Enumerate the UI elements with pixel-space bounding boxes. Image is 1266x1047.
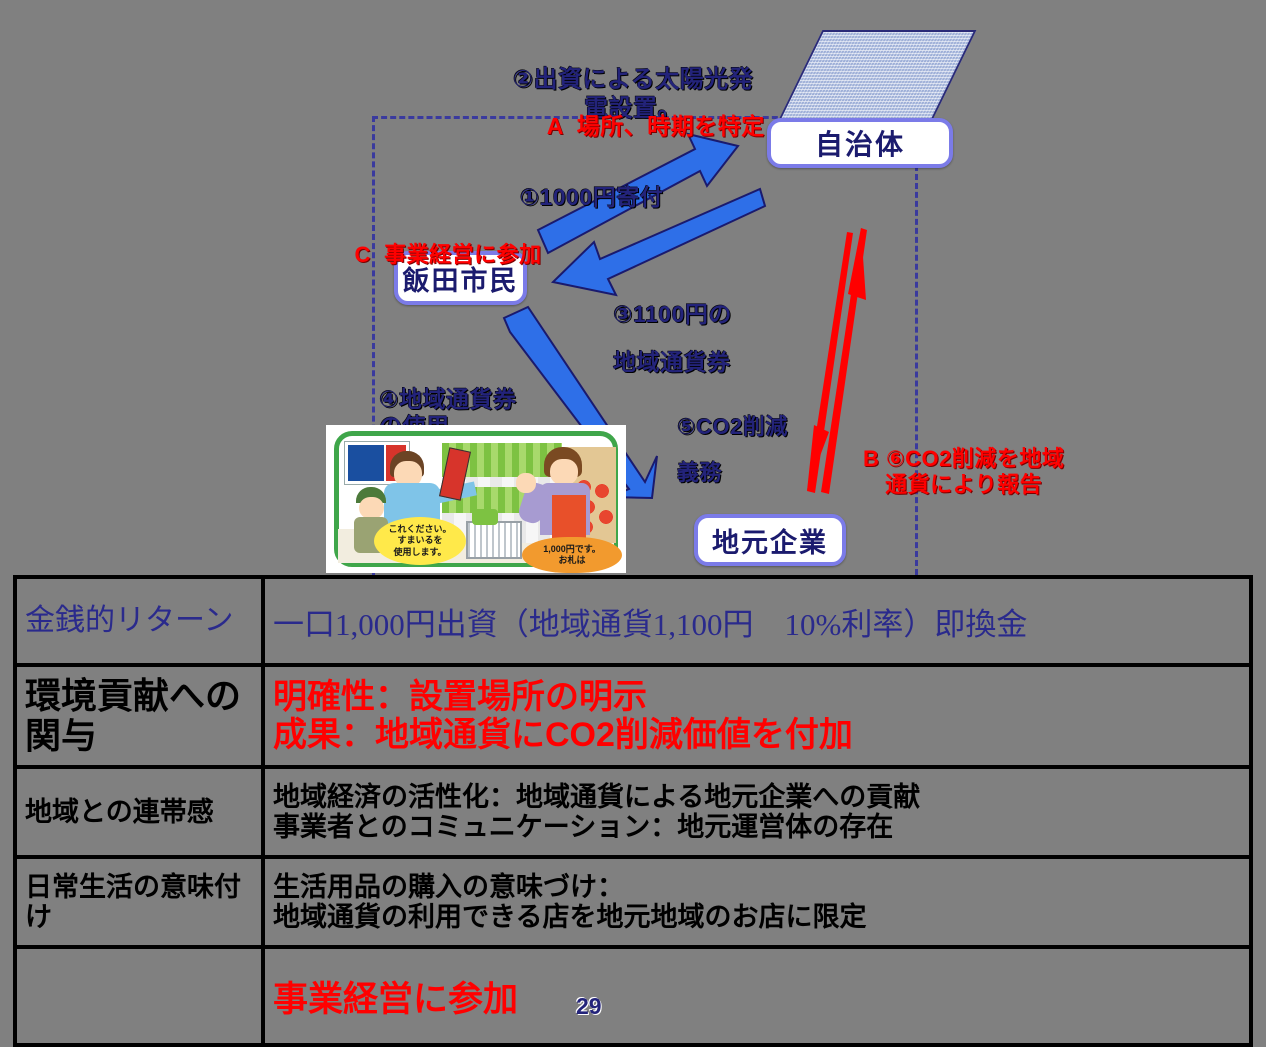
illustration-clerk-hand <box>516 473 536 493</box>
row1-value-line1: 一口1,000円出資（地域通貨1,100円 10%利率）即換金 <box>273 599 1241 644</box>
attributes-table: 金銭的リターン 一口1,000円出資（地域通貨1,100円 10%利率）即換金 … <box>13 575 1253 1047</box>
table-cell-value: 事業経営に参加29 <box>263 947 1251 1045</box>
row2-value-line2: 成果：地域通貨にCO2削減価値を付加 <box>273 716 1241 754</box>
label-step5: ⑤CO2削減 義務 <box>677 392 788 484</box>
table-cell-key <box>15 947 263 1045</box>
row1-key: 金銭的リターン <box>25 605 253 637</box>
label-point-c: C 事業経営に参加 <box>328 215 542 295</box>
slide-canvas: 自治体 飯田市民 地元企業 ②出資による太陽光発 電設置。 A 場所、時期を特定… <box>0 0 1266 1042</box>
row4-key: 日常生活の意味付け <box>25 872 253 933</box>
label-point-b: B ⑥CO2削減を地域 通貨により報告 <box>863 420 1064 498</box>
row3-value-line1: 地域経済の活性化：地域通貨による地元企業への貢献 <box>273 782 1241 813</box>
table-row: 地域との連帯感 地域経済の活性化：地域通貨による地元企業への貢献 事業者とのコミ… <box>15 767 1251 857</box>
table-row: 環境貢献への関与 明確性：設置場所の明示 成果：地域通貨にCO2削減価値を付加 <box>15 665 1251 767</box>
table-cell-value: 明確性：設置場所の明示 成果：地域通貨にCO2削減価値を付加 <box>263 665 1251 767</box>
table-row: 日常生活の意味付け 生活用品の購入の意味づけ： 地域通貨の利用できる店を地元地域… <box>15 857 1251 947</box>
illustration-price-text: 1,000円です。 お札は <box>543 544 601 567</box>
table-cell-value: 一口1,000円出資（地域通貨1,100円 10%利率）即換金 <box>263 577 1251 665</box>
illustration-clerk-apron <box>552 495 586 539</box>
illustration-speech-text: これください。 すまいるを 使用します。 <box>388 524 451 558</box>
illustration-clerk-face <box>550 459 578 485</box>
row5-value-line1: 事業経営に参加 <box>273 980 518 1019</box>
table-cell-key: 金銭的リターン <box>15 577 263 665</box>
illustration-boy-face <box>359 497 384 519</box>
shopping-illustration: これください。 すまいるを 使用します。 1,000円です。 お札は <box>326 425 626 573</box>
page-number: 29 <box>576 993 602 1019</box>
table-row: 金銭的リターン 一口1,000円出資（地域通貨1,100円 10%利率）即換金 <box>15 577 1251 665</box>
table-cell-key: 日常生活の意味付け <box>15 857 263 947</box>
illustration-speech-bubble: これください。 すまいるを 使用します。 <box>374 517 466 565</box>
table-row: 事業経営に参加29 <box>15 947 1251 1045</box>
illustration-price-bubble: 1,000円です。 お札は <box>522 537 622 573</box>
row3-value-line2: 事業者とのコミュニケーション：地元運営体の存在 <box>273 812 1241 843</box>
row4-value-line2: 地域通貨の利用できる店を地元地域のお店に限定 <box>273 902 1241 933</box>
row2-value-line1: 明確性：設置場所の明示 <box>273 678 1241 716</box>
table-cell-value: 生活用品の購入の意味づけ： 地域通貨の利用できる店を地元地域のお店に限定 <box>263 857 1251 947</box>
row4-value-line1: 生活用品の購入の意味づけ： <box>273 872 1241 903</box>
table-cell-key: 地域との連帯感 <box>15 767 263 857</box>
label-step3: ③1100円の 地域通貨券 <box>613 278 732 375</box>
table-cell-key: 環境貢献への関与 <box>15 665 263 767</box>
table-cell-value: 地域経済の活性化：地域通貨による地元企業への貢献 事業者とのコミュニケーション：… <box>263 767 1251 857</box>
row3-key: 地域との連帯感 <box>25 797 253 828</box>
row2-key: 環境貢献への関与 <box>25 676 253 755</box>
illustration-basket <box>466 521 522 559</box>
illustration-basket-greens <box>472 509 498 525</box>
